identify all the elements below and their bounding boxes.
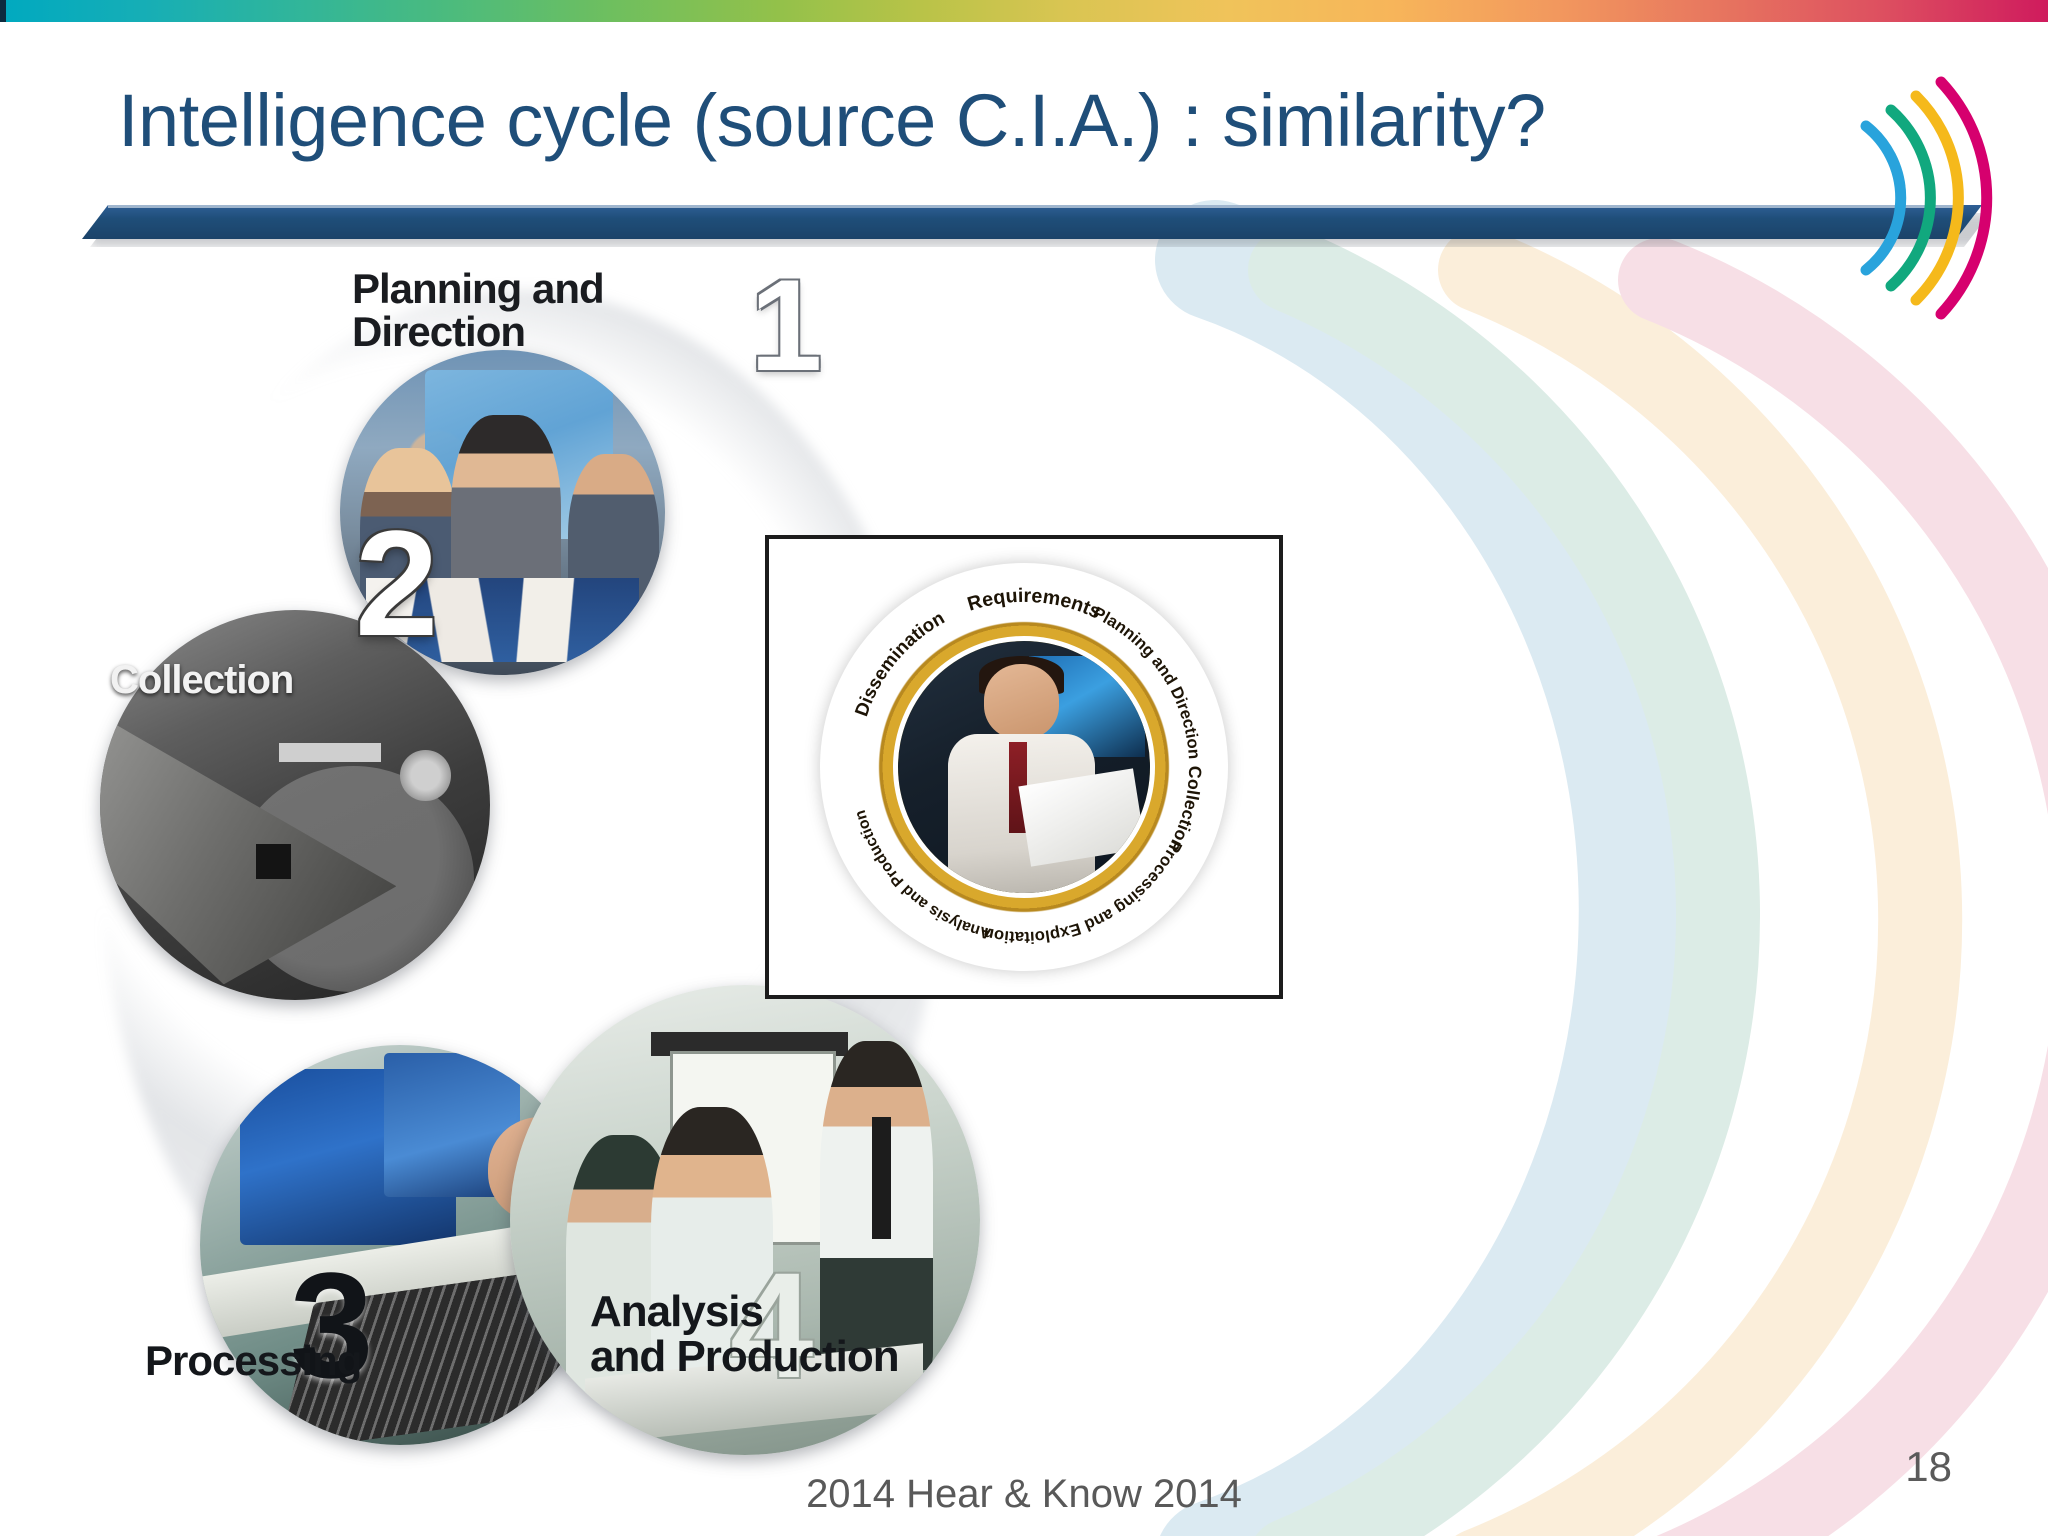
cycle-step-label-collection: Collection bbox=[110, 660, 293, 701]
cycle-step-label-planning: Planning and Direction bbox=[352, 268, 604, 354]
inner-blue-arc bbox=[1866, 126, 1901, 270]
pale-pink-arc bbox=[1660, 280, 2048, 1536]
pale-cream-arc bbox=[1480, 270, 1920, 1536]
title-underline-highlight bbox=[108, 205, 1956, 208]
cycle-step-number-1: 1 bbox=[750, 260, 822, 390]
inset-image-frame: Requirements Planning and Direction Coll… bbox=[765, 535, 1283, 999]
seal-center-photo bbox=[898, 641, 1150, 893]
slide-canvas: Intelligence cycle (source C.I.A.) : sim… bbox=[0, 0, 2048, 1536]
page-title: Intelligence cycle (source C.I.A.) : sim… bbox=[118, 84, 1898, 158]
title-underline-bar bbox=[82, 205, 1997, 251]
title-underline-shape bbox=[82, 205, 1982, 239]
sound-wave-arcs bbox=[1748, 48, 2048, 348]
magenta-arc bbox=[1941, 82, 1987, 314]
cycle-step-label-processing: Processing bbox=[145, 1340, 361, 1383]
pale-mint-arc bbox=[1290, 270, 1718, 1536]
cycle-step-number-2: 2 bbox=[355, 508, 438, 658]
rainbow-gradient-band bbox=[0, 0, 2048, 22]
cycle-step-label-analysis: Analysis and Production bbox=[590, 1290, 899, 1380]
band-left-edge bbox=[0, 0, 6, 22]
yellow-arc bbox=[1916, 96, 1958, 300]
page-number: 18 bbox=[1905, 1443, 1952, 1491]
footer-text: 2014 Hear & Know 2014 bbox=[0, 1472, 2048, 1517]
